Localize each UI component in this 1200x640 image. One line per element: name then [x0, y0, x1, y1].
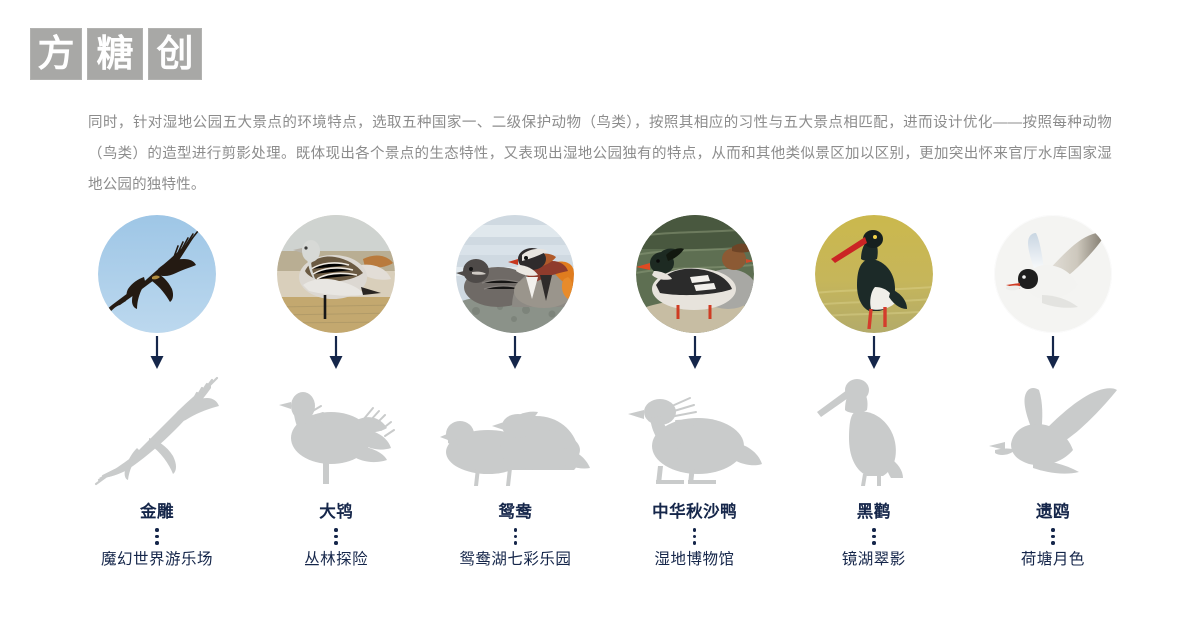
arrow-down-icon: [148, 333, 166, 373]
silhouette-mandarin-duck: [440, 373, 590, 488]
photo-great-bustard: [277, 215, 395, 333]
bird-column-scaly-sided-merganser: 中华秋沙鸭 湿地博物馆: [608, 215, 782, 571]
arrow-down-icon: [506, 333, 524, 373]
photo-black-stork: [815, 215, 933, 333]
bird-name-label: 大鸨: [319, 502, 353, 522]
spot-name-label: 丛林探险: [304, 549, 368, 571]
photo-golden-eagle: [98, 215, 216, 333]
arrow-down-icon: [1044, 333, 1062, 373]
vertical-ellipsis-icon: [872, 528, 876, 545]
photo-relict-gull: [994, 215, 1112, 333]
silhouette-relict-gull: [989, 373, 1117, 488]
bird-column-great-bustard: 大鸨 丛林探险: [249, 215, 423, 571]
silhouette-scaly-sided-merganser: [628, 373, 762, 488]
spot-name-label: 鸳鸯湖七彩乐园: [459, 549, 571, 571]
bird-name-label: 遗鸥: [1036, 502, 1070, 522]
bird-name-label: 黑鹳: [857, 502, 891, 522]
arrow-down-icon: [327, 333, 345, 373]
spot-name-label: 镜湖翠影: [842, 549, 906, 571]
bird-column-golden-eagle: 金雕 魔幻世界游乐场: [70, 215, 244, 571]
vertical-ellipsis-icon: [514, 528, 518, 545]
vertical-ellipsis-icon: [693, 528, 697, 545]
logo-char-3: 创: [148, 28, 202, 80]
logo-char-2: 糖: [87, 28, 143, 80]
bird-column-black-stork: 黑鹳 镜湖翠影: [787, 215, 961, 571]
bird-column-mandarin-duck: 鸳鸯 鸳鸯湖七彩乐园: [428, 215, 602, 571]
silhouette-great-bustard: [277, 373, 395, 488]
bird-column-list: 金雕 魔幻世界游乐场: [70, 215, 1140, 571]
spot-name-label: 荷塘月色: [1021, 549, 1085, 571]
bird-name-label: 中华秋沙鸭: [652, 502, 737, 522]
photo-mandarin-duck: [456, 215, 574, 333]
logo-char-1: 方: [30, 28, 82, 80]
spot-name-label: 魔幻世界游乐场: [101, 549, 213, 571]
vertical-ellipsis-icon: [334, 528, 338, 545]
brand-logo: 方 糖 创: [30, 28, 202, 80]
bird-name-label: 鸳鸯: [498, 502, 532, 522]
silhouette-golden-eagle: [93, 373, 221, 488]
spot-name-label: 湿地博物馆: [655, 549, 735, 571]
vertical-ellipsis-icon: [155, 528, 159, 545]
bird-column-relict-gull: 遗鸥 荷塘月色: [966, 215, 1140, 571]
bird-name-label: 金雕: [140, 502, 174, 522]
arrow-down-icon: [686, 333, 704, 373]
description-paragraph: 同时，针对湿地公园五大景点的环境特点，选取五种国家一、二级保护动物（鸟类），按照…: [88, 108, 1112, 201]
silhouette-black-stork: [815, 373, 933, 488]
vertical-ellipsis-icon: [1051, 528, 1055, 545]
arrow-down-icon: [865, 333, 883, 373]
photo-scaly-sided-merganser: [636, 215, 754, 333]
